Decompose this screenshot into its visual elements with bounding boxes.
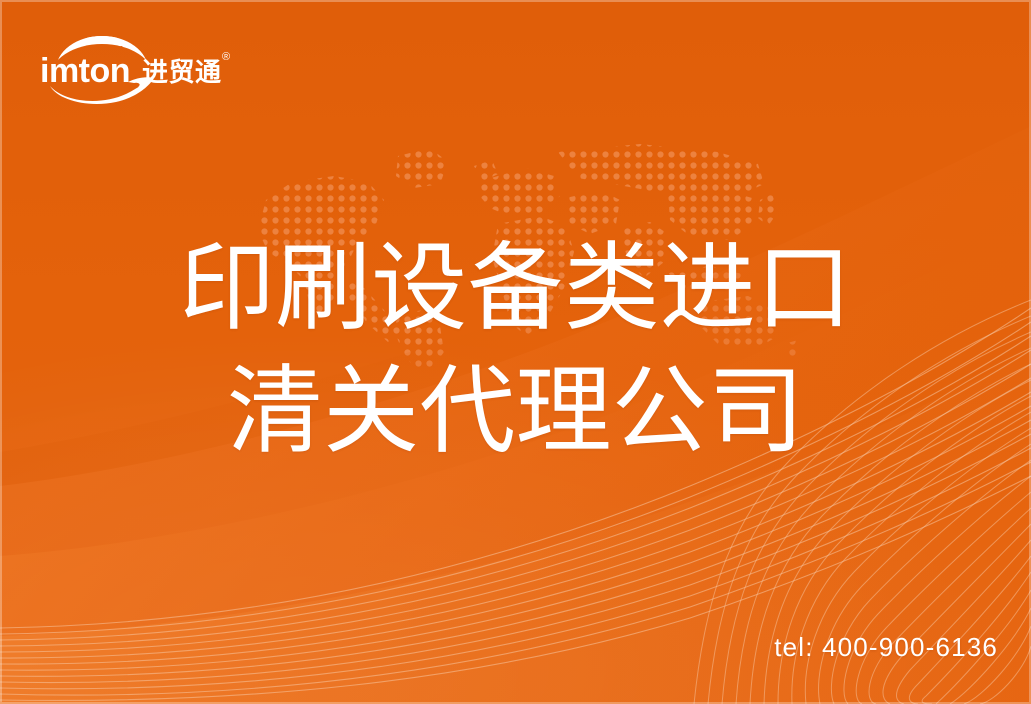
headline: 印刷设备类进口 清关代理公司	[0, 228, 1031, 474]
promo-banner: imton 进贸通 ® 印刷设备类进口 清关代理公司 tel: 400-900-…	[0, 0, 1031, 704]
registered-trademark-icon: ®	[222, 51, 230, 63]
headline-line-1: 印刷设备类进口	[0, 228, 1031, 351]
logo-chinese-name: 进贸通	[142, 58, 222, 88]
logo-wordmark: imton	[40, 52, 130, 90]
company-logo[interactable]: imton 进贸通 ®	[38, 26, 238, 106]
headline-line-2: 清关代理公司	[0, 351, 1031, 474]
telephone-text: tel: 400-900-6136	[774, 632, 998, 663]
